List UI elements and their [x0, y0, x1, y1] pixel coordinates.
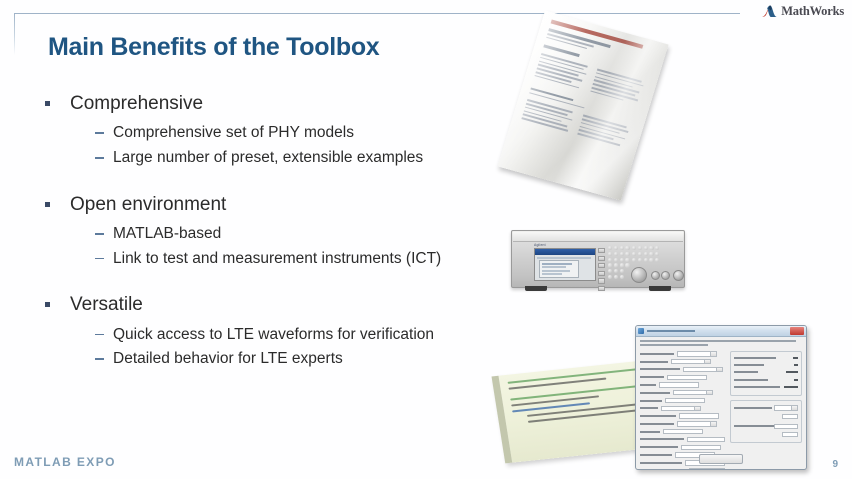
- gui-group-box: [730, 351, 802, 396]
- instrument-small-knob: [651, 271, 660, 280]
- sub-bullet-label: Quick access to LTE waveforms for verifi…: [113, 324, 434, 346]
- sub-bullet-item: Large number of preset, extensible examp…: [95, 147, 515, 169]
- gui-left-column: [640, 351, 725, 470]
- instrument-small-knob: [661, 271, 670, 280]
- gui-dialog-description: [636, 337, 806, 350]
- gui-dialog-image: [635, 325, 809, 473]
- bullet-label: Comprehensive: [70, 92, 203, 116]
- bullet-block-versatile: Versatile Quick access to LTE waveforms …: [45, 293, 515, 370]
- mathworks-membrane-icon: [761, 4, 778, 19]
- dash-bullet-icon: [95, 334, 104, 336]
- instrument-screen-titlebar: [535, 249, 595, 255]
- square-bullet-icon: [45, 101, 50, 106]
- dash-bullet-icon: [95, 233, 104, 235]
- documentation-page-sheet: [497, 10, 668, 200]
- square-bullet-icon: [45, 202, 50, 207]
- sub-bullet-item: Link to test and measurement instruments…: [95, 248, 515, 270]
- sub-bullet-item: Comprehensive set of PHY models: [95, 122, 515, 144]
- gui-dialog-actions: [636, 454, 806, 464]
- gui-dialog-title-text: [647, 330, 695, 333]
- gui-dialog-window: [635, 325, 807, 470]
- instrument-chassis: Agilent: [511, 230, 685, 288]
- gui-group-box: [730, 400, 802, 444]
- dash-bullet-icon: [95, 157, 104, 159]
- dash-bullet-icon: [95, 358, 104, 360]
- instrument-rotary-knob: [631, 267, 647, 283]
- gui-right-column: [730, 351, 802, 470]
- gui-dialog-body: [636, 350, 806, 470]
- dash-bullet-icon: [95, 132, 104, 134]
- instrument-screen-panel: [539, 260, 579, 278]
- instrument-keypad-left: [608, 246, 630, 268]
- instrument-display-screen: [534, 248, 596, 281]
- header-rule: [14, 13, 740, 14]
- footer-brand: MATLAB EXPO: [14, 455, 116, 469]
- gui-dialog-titlebar: [636, 326, 806, 337]
- slide: MathWorks Main Benefits of the Toolbox C…: [0, 0, 852, 479]
- bullet-item: Comprehensive: [45, 92, 515, 116]
- sub-bullet-item: Detailed behavior for LTE experts: [95, 348, 515, 370]
- documentation-page-image: [505, 18, 690, 198]
- instrument-image: Agilent: [511, 228, 687, 300]
- instrument-foot: [649, 286, 671, 291]
- doc-column-left: [534, 51, 593, 92]
- instrument-keypad-right: [632, 246, 659, 262]
- dash-bullet-icon: [95, 258, 104, 260]
- instrument-foot: [525, 286, 547, 291]
- instrument-rf-connector: [673, 270, 684, 281]
- doc-column-right: [576, 113, 634, 151]
- sub-bullet-label: Large number of preset, extensible examp…: [113, 147, 423, 169]
- instrument-soft-keys: [598, 248, 605, 291]
- header-corner-bracket: [14, 13, 15, 55]
- bullet-label: Open environment: [70, 193, 226, 217]
- instrument-brand-label: Agilent: [534, 243, 546, 247]
- sub-bullet-item: MATLAB-based: [95, 223, 515, 245]
- instrument-top-bezel: [513, 232, 683, 242]
- page-title: Main Benefits of the Toolbox: [48, 33, 379, 62]
- mathworks-logo: MathWorks: [761, 4, 844, 19]
- mathworks-logo-text: MathWorks: [781, 5, 844, 18]
- gui-primary-button[interactable]: [699, 454, 743, 464]
- page-number: 9: [832, 459, 838, 470]
- bullet-list: Comprehensive Comprehensive set of PHY m…: [45, 92, 515, 373]
- gui-app-icon: [638, 328, 644, 334]
- bullet-block-comprehensive: Comprehensive Comprehensive set of PHY m…: [45, 92, 515, 169]
- bullet-item: Open environment: [45, 193, 515, 217]
- sub-bullet-label: Link to test and measurement instruments…: [113, 248, 441, 270]
- bullet-item: Versatile: [45, 293, 515, 317]
- instrument-keypad-bottom: [608, 269, 624, 279]
- bullet-block-open-environment: Open environment MATLAB-based Link to te…: [45, 193, 515, 270]
- sub-bullet-label: Comprehensive set of PHY models: [113, 122, 354, 144]
- doc-column-right: [589, 66, 648, 107]
- sub-bullet-item: Quick access to LTE waveforms for verifi…: [95, 324, 515, 346]
- bullet-label: Versatile: [70, 293, 143, 317]
- close-icon[interactable]: [790, 327, 804, 335]
- sub-bullet-label: Detailed behavior for LTE experts: [113, 348, 343, 370]
- sub-bullet-label: MATLAB-based: [113, 223, 221, 245]
- square-bullet-icon: [45, 302, 50, 307]
